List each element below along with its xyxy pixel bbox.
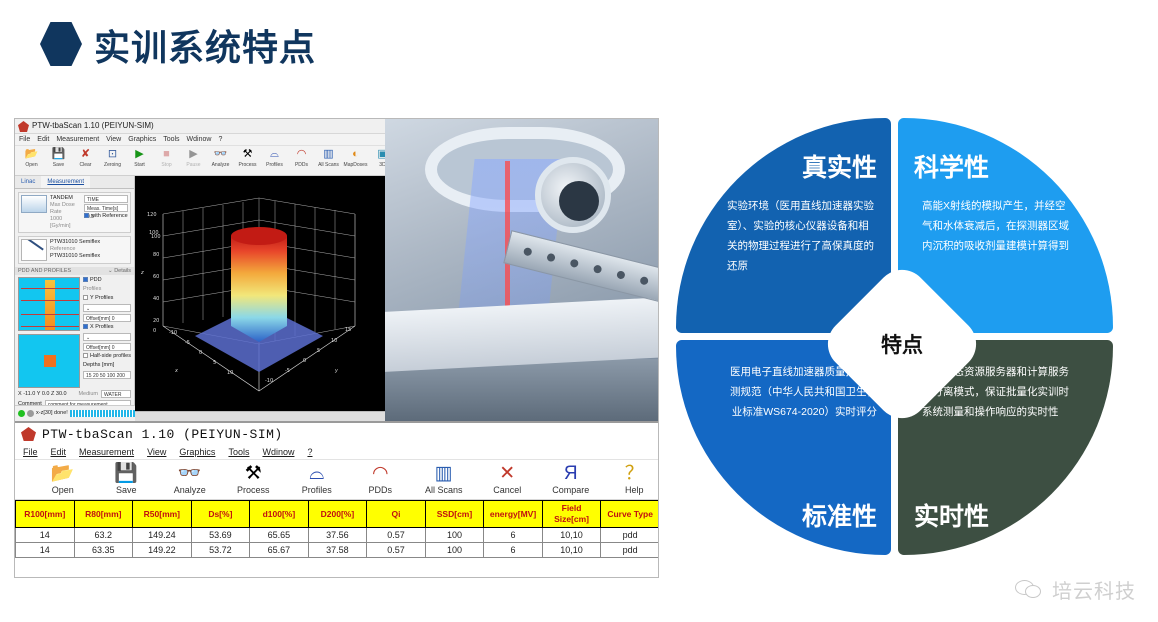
- page-title: 实训系统特点: [94, 19, 316, 71]
- x-profile-select[interactable]: ⌄: [83, 333, 131, 341]
- reference-label: Reference: [50, 246, 128, 253]
- section-title: PDD AND PROFILES: [18, 268, 71, 274]
- coordinates-readout: X -11.0 Y 0.0 Z 30.0: [18, 391, 75, 398]
- stop-icon: ■: [163, 148, 170, 161]
- treatment-head: [535, 157, 611, 233]
- toolbar-button-analyze[interactable]: 👓Analyze: [164, 463, 216, 495]
- svg-text:20: 20: [153, 318, 159, 324]
- menu-item-graphics[interactable]: Graphics: [128, 136, 156, 143]
- svg-text:y: y: [334, 368, 339, 374]
- table-cell: 53.69: [191, 528, 250, 543]
- pdd-label: PDD: [90, 277, 102, 283]
- table-cell: 149.22: [133, 543, 192, 558]
- ptw-bottom-window: PTW-tbaScan 1.10 (PEIYUN-SIM) File Edit …: [15, 421, 659, 578]
- toolbar-button-cancel[interactable]: ✕Cancel: [482, 463, 534, 495]
- half-side-label: Half-side profiles: [90, 353, 131, 359]
- svg-text:100: 100: [151, 234, 161, 240]
- status-led-grey: [27, 410, 34, 417]
- table-column-header[interactable]: SSD[cm]: [425, 501, 484, 528]
- table-column-header[interactable]: Ds[%]: [191, 501, 250, 528]
- scan-status: x-z[30] done!: [36, 410, 68, 417]
- pdd-checkbox[interactable]: [83, 277, 88, 282]
- svg-text:z: z: [140, 270, 144, 276]
- medium-label: Medium: [78, 391, 98, 398]
- quadrant-body-authenticity: 实验环境（医用直线加速器实验室）、实验的核心仪器设备和相关的物理过程进行了高保真…: [727, 196, 877, 276]
- y-profiles-checkbox[interactable]: [83, 295, 88, 300]
- toolbar-button-profiles[interactable]: ⌓Profiles: [291, 463, 343, 495]
- y-offset-field[interactable]: Offset[mm] 0: [83, 314, 131, 322]
- x-profiles-checkbox[interactable]: [83, 324, 88, 329]
- field-chamber: PTW31010 Semiflex: [50, 239, 128, 246]
- measurement-panel: Linac Measurement TANDEM Max Dose Rate 1…: [15, 176, 135, 421]
- menu-item-edit[interactable]: Edit: [51, 447, 67, 457]
- toolbar-button-stop[interactable]: ■Stop: [154, 148, 179, 169]
- scan-results-table[interactable]: R100[mm]R80[mm]R50[mm]Ds[%]d100[%]D200[%…: [15, 500, 659, 558]
- menu-item-measurement[interactable]: Measurement: [79, 447, 134, 457]
- menu-item-file[interactable]: File: [19, 136, 30, 143]
- depths-label: Depths [mm]: [83, 362, 131, 369]
- profile-options: PDD Profiles Y Profiles ⌄ Offset[mm] 0 X…: [83, 277, 131, 388]
- y-profiles-label: Y Profiles: [90, 295, 113, 301]
- linac-photo: [385, 119, 659, 421]
- glasses-icon: 👓: [214, 148, 228, 161]
- table-cell: 37.56: [308, 528, 367, 543]
- toolbar-button-compare[interactable]: ЯCompare: [545, 463, 597, 495]
- x-profiles-label: X Profiles: [90, 324, 114, 330]
- reference-chamber: PTW31010 Semiflex: [50, 253, 128, 260]
- table-cell: 10,10: [542, 543, 601, 558]
- chamber-icon: [21, 239, 47, 261]
- with-reference-label: with Reference: [91, 213, 128, 219]
- app-logo-icon: [18, 121, 29, 132]
- menu-item-tools[interactable]: Tools: [163, 136, 179, 143]
- svg-text:40: 40: [153, 296, 159, 302]
- menu-item-window[interactable]: Wdinow: [187, 136, 212, 143]
- menu-item-file[interactable]: File: [23, 447, 38, 457]
- table-cell: 100: [425, 543, 484, 558]
- table-column-header[interactable]: R100[mm]: [16, 501, 75, 528]
- toolbar-button-open[interactable]: 📂Open: [19, 148, 44, 169]
- toolbar-button-pdds[interactable]: ◠PDDs: [355, 463, 407, 495]
- slide-header: 实训系统特点: [0, 0, 1158, 100]
- quadrant-body-scientific: 高能X射线的模拟产生，并经空气和水体衰减后，在探测器区域内沉积的吸收剂量建模计算…: [922, 196, 1072, 256]
- slide-root: 实训系统特点 PTW-tbaScan 1.10 (PEIYUN-SIM) – ⧉…: [0, 0, 1158, 622]
- menu-item-window[interactable]: Wdinow: [262, 447, 294, 457]
- svg-text:5: 5: [213, 360, 216, 366]
- half-side-checkbox[interactable]: [83, 353, 88, 358]
- menu-item-edit[interactable]: Edit: [37, 136, 49, 143]
- table-cell: 65.65: [250, 528, 309, 543]
- watermark-text: 培云科技: [1052, 575, 1136, 604]
- svg-text:x: x: [174, 368, 178, 374]
- pdd-preview-image: [18, 277, 80, 331]
- panel-tabs[interactable]: Linac Measurement: [15, 176, 134, 189]
- table-cell: 37.58: [308, 543, 367, 558]
- meas-time-field[interactable]: Meas. Time[s] 0.3: [84, 204, 128, 212]
- with-reference-checkbox[interactable]: [84, 213, 89, 218]
- max-dose-rate-unit: [Gy/min]: [50, 223, 70, 229]
- toolbar-button-open[interactable]: 📂Open: [37, 463, 89, 495]
- table-column-header[interactable]: R80[mm]: [74, 501, 133, 528]
- svg-text:60: 60: [153, 274, 159, 280]
- medium-select[interactable]: WATER: [101, 390, 131, 398]
- svg-text:10: 10: [331, 338, 337, 344]
- menu-item-tools[interactable]: Tools: [228, 447, 249, 457]
- toolbar-button-mapdoses[interactable]: ◐MapDoses: [343, 148, 368, 169]
- save-disk-icon: 💾: [52, 148, 66, 161]
- table-cell: 10,10: [542, 528, 601, 543]
- toolbar-button-analyze[interactable]: 👓Analyze: [208, 148, 233, 169]
- details-toggle[interactable]: ⌄ Details: [108, 268, 131, 274]
- table-row[interactable]: 1463.2149.2453.6965.6537.560.57100610,10…: [16, 528, 660, 543]
- cancel-icon: ✕: [499, 463, 515, 484]
- pdd-curve-icon: ◠: [372, 463, 389, 484]
- toolbar-button-save[interactable]: 💾Save: [46, 148, 71, 169]
- x-offset-field[interactable]: Offset[mm] 0: [83, 343, 131, 351]
- toolbar-button-all-scans[interactable]: ▥All Scans: [316, 148, 341, 169]
- table-cell: 63.2: [74, 528, 133, 543]
- mapdoses-icon: ◐: [352, 148, 359, 161]
- toolbar-button-pause[interactable]: ▶Pause: [181, 148, 206, 169]
- table-cell: 14: [16, 543, 75, 558]
- svg-text:0: 0: [199, 350, 202, 356]
- all-scans-icon: ▥: [435, 463, 453, 484]
- toolbar-button-all-scans[interactable]: ▥All Scans: [418, 463, 470, 495]
- pdd-curve-icon: ◠: [297, 148, 307, 161]
- max-dose-rate-value: 1000: [50, 216, 62, 222]
- tab-linac[interactable]: Linac: [15, 176, 41, 188]
- hexagon-icon: [40, 22, 82, 66]
- table-cell: 6: [484, 543, 543, 558]
- svg-text:-10: -10: [169, 330, 177, 336]
- pause-icon: ▶: [189, 148, 197, 161]
- table-column-header[interactable]: Qi: [367, 501, 426, 528]
- features-diagram: 真实性 实验环境（医用直线加速器实验室）、实验的核心仪器设备和相关的物理过程进行…: [676, 118, 1128, 570]
- svg-text:0: 0: [303, 358, 306, 364]
- profiles-title: Profiles: [83, 286, 131, 293]
- wechat-bubbles-icon: [1015, 578, 1045, 602]
- zeroing-icon: ⊡: [108, 148, 117, 161]
- menu-item-view[interactable]: View: [106, 136, 121, 143]
- status-strip: x-z[30] done!: [15, 405, 135, 421]
- toolbar-button-start[interactable]: ▶Start: [127, 148, 152, 169]
- table-cell: 100: [425, 528, 484, 543]
- table-column-header[interactable]: Curve Type: [601, 501, 659, 528]
- top-window-title: PTW-tbaScan 1.10 (PEIYUN-SIM): [32, 121, 154, 130]
- pdd-profiles-section-header[interactable]: PDD AND PROFILES ⌄ Details: [15, 267, 134, 275]
- dose-surface-plot: 120100100 806040 200 z x y 15105 0-5-10 …: [135, 176, 385, 411]
- svg-text:120: 120: [147, 212, 157, 218]
- svg-text:-5: -5: [285, 368, 290, 374]
- glasses-icon: 👓: [178, 463, 202, 484]
- progress-bar: [70, 410, 135, 417]
- help-icon: ？: [625, 463, 644, 484]
- toolbar-button-process[interactable]: ⚒Process: [228, 463, 280, 495]
- table-column-header[interactable]: energy[MV]: [484, 501, 543, 528]
- profile-previews: [18, 277, 80, 388]
- menu-item-measurement[interactable]: Measurement: [56, 136, 99, 143]
- center-label: 特点: [881, 329, 923, 359]
- bottom-window-titlebar[interactable]: PTW-tbaScan 1.10 (PEIYUN-SIM): [15, 423, 659, 445]
- table-cell: 14: [16, 528, 75, 543]
- status-led-green: [18, 410, 25, 417]
- svg-text:0: 0: [153, 328, 156, 334]
- table-header-row: R100[mm]R80[mm]R50[mm]Ds[%]d100[%]D200[%…: [16, 501, 660, 528]
- svg-text:10: 10: [227, 370, 233, 376]
- toolbar-button-help[interactable]: ？Help: [609, 463, 660, 495]
- table-column-header[interactable]: R50[mm]: [133, 501, 192, 528]
- toolbar-button-profiles[interactable]: ⌓Profiles: [262, 148, 287, 169]
- table-cell: 63.35: [74, 543, 133, 558]
- all-scans-icon: ▥: [323, 148, 333, 161]
- quadrant-title-realtime: 实时性: [914, 497, 989, 533]
- detector-name: TANDEM: [50, 195, 81, 202]
- profiles-curve-icon: ⌓: [270, 148, 279, 161]
- table-cell: 0.57: [367, 528, 426, 543]
- bottom-window-toolbar[interactable]: 📂Open 💾Save 👓Analyze ⚒Process ⌓Profiles …: [15, 460, 659, 500]
- profiles-controls: PDD Profiles Y Profiles ⌄ Offset[mm] 0 X…: [18, 277, 131, 388]
- toolbar-button-save[interactable]: 💾Save: [101, 463, 153, 495]
- quadrant-title-scientific: 科学性: [914, 148, 989, 184]
- table-column-header[interactable]: Field Size[cm]: [542, 501, 601, 528]
- depths-field[interactable]: 15 20 50 100 200: [83, 371, 131, 379]
- profiles-curve-icon: ⌓: [309, 463, 324, 484]
- toolbar-button-pdds[interactable]: ◠PDDs: [289, 148, 314, 169]
- tools-icon: ⚒: [243, 148, 253, 161]
- y-profile-select[interactable]: ⌄: [83, 304, 131, 312]
- svg-text:-5: -5: [185, 340, 190, 346]
- table-cell: pdd: [601, 543, 659, 558]
- table-column-header[interactable]: d100[%]: [250, 501, 309, 528]
- menu-item-view[interactable]: View: [147, 447, 166, 457]
- table-cell: 0.57: [367, 543, 426, 558]
- table-cell: pdd: [601, 528, 659, 543]
- table-cell: 6: [484, 528, 543, 543]
- open-folder-icon: 📂: [25, 148, 39, 161]
- app-logo-icon: [21, 427, 36, 441]
- open-folder-icon: 📂: [51, 463, 75, 484]
- svg-text:5: 5: [317, 348, 320, 354]
- svg-text:15: 15: [345, 327, 351, 333]
- play-icon: ▶: [135, 148, 143, 161]
- table-row[interactable]: 1463.35149.2253.7265.6737.580.57100610,1…: [16, 543, 660, 558]
- save-disk-icon: 💾: [114, 463, 138, 484]
- quadrant-title-authenticity: 真实性: [802, 148, 877, 184]
- compare-icon: Я: [564, 463, 578, 484]
- svg-text:-10: -10: [265, 378, 273, 384]
- toolbar-button-zeroing[interactable]: ⊡Zeroing: [100, 148, 125, 169]
- table-column-header[interactable]: D200[%]: [308, 501, 367, 528]
- software-screenshot: PTW-tbaScan 1.10 (PEIYUN-SIM) – ⧉ ✕ File…: [14, 118, 659, 578]
- table-cell: 53.72: [191, 543, 250, 558]
- menu-item-graphics[interactable]: Graphics: [179, 447, 215, 457]
- toolbar-button-clear[interactable]: ✘Clear: [73, 148, 98, 169]
- table-cell: 65.67: [250, 543, 309, 558]
- menu-item-help[interactable]: ?: [307, 447, 312, 457]
- tab-measurement[interactable]: Measurement: [41, 176, 90, 188]
- svg-text:80: 80: [153, 252, 159, 258]
- tools-icon: ⚒: [245, 463, 262, 484]
- tandem-device-icon: [21, 195, 47, 213]
- max-dose-rate-label: Max Dose Rate: [50, 202, 81, 216]
- bottom-window-menubar[interactable]: File Edit Measurement View Graphics Tool…: [15, 445, 659, 460]
- clear-x-icon: ✘: [81, 148, 90, 161]
- mode-select[interactable]: TIME: [84, 195, 128, 203]
- menu-item-help[interactable]: ?: [218, 136, 222, 143]
- table-cell: 149.24: [133, 528, 192, 543]
- toolbar-button-process[interactable]: ⚒Process: [235, 148, 260, 169]
- profile-preview-image: [18, 334, 80, 388]
- chamber-group: PTW31010 Semiflex Reference PTW31010 Sem…: [18, 236, 131, 264]
- detector-group: TANDEM Max Dose Rate 1000 [Gy/min] TIME …: [18, 192, 131, 233]
- quadrant-title-standardization: 标准性: [802, 497, 877, 533]
- ptw-top-window: PTW-tbaScan 1.10 (PEIYUN-SIM) – ⧉ ✕ File…: [15, 119, 659, 421]
- bottom-window-title: PTW-tbaScan 1.10 (PEIYUN-SIM): [42, 427, 283, 442]
- watermark: 培云科技: [1015, 575, 1136, 604]
